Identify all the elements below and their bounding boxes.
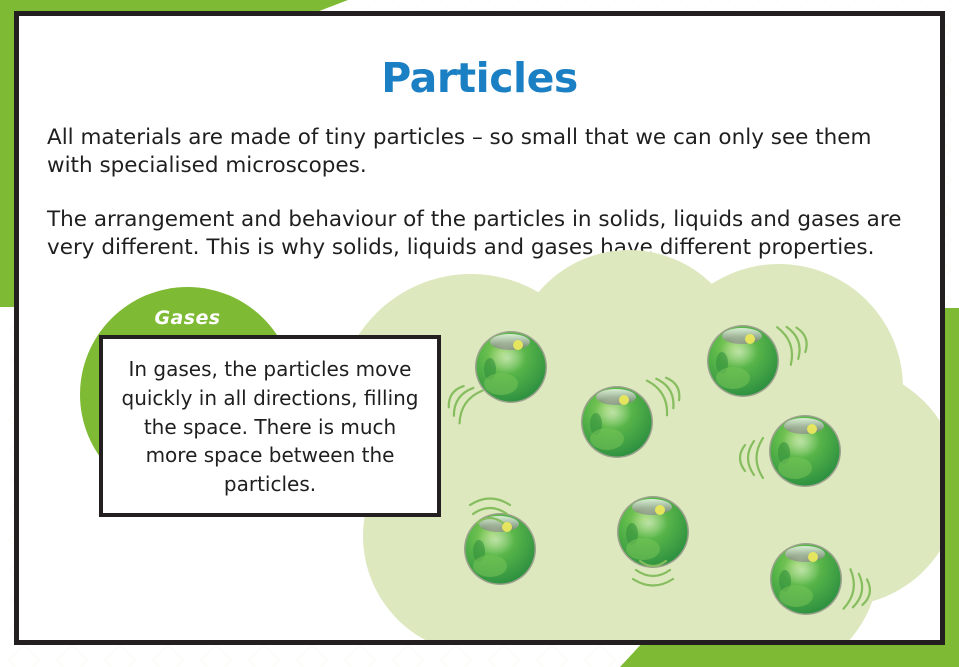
decor-band-right [943,308,959,657]
particle-5 [464,499,536,586]
intro-paragraph-1: All materials are made of tiny particles… [47,124,917,181]
page-title: Particles [19,54,940,102]
particle-4 [740,415,841,487]
particle-6 [617,496,689,586]
slide-card: Particles All materials are made of tiny… [14,11,945,645]
particle-7 [770,543,873,615]
slide-canvas: Particles All materials are made of tiny… [0,0,959,667]
gases-callout-box: In gases, the particles move quickly in … [99,335,441,517]
particle-1 [441,331,547,423]
gases-illustration: Gases [19,16,945,645]
decor-band-bottom-right [620,645,959,667]
particle-group [19,16,945,645]
particle-2 [707,319,812,397]
state-label-gases: Gases [80,307,295,329]
particle-3 [581,369,687,458]
intro-paragraph-2: The arrangement and behaviour of the par… [47,206,917,263]
state-circle-gases [80,287,295,502]
cloud-shape [19,16,945,645]
